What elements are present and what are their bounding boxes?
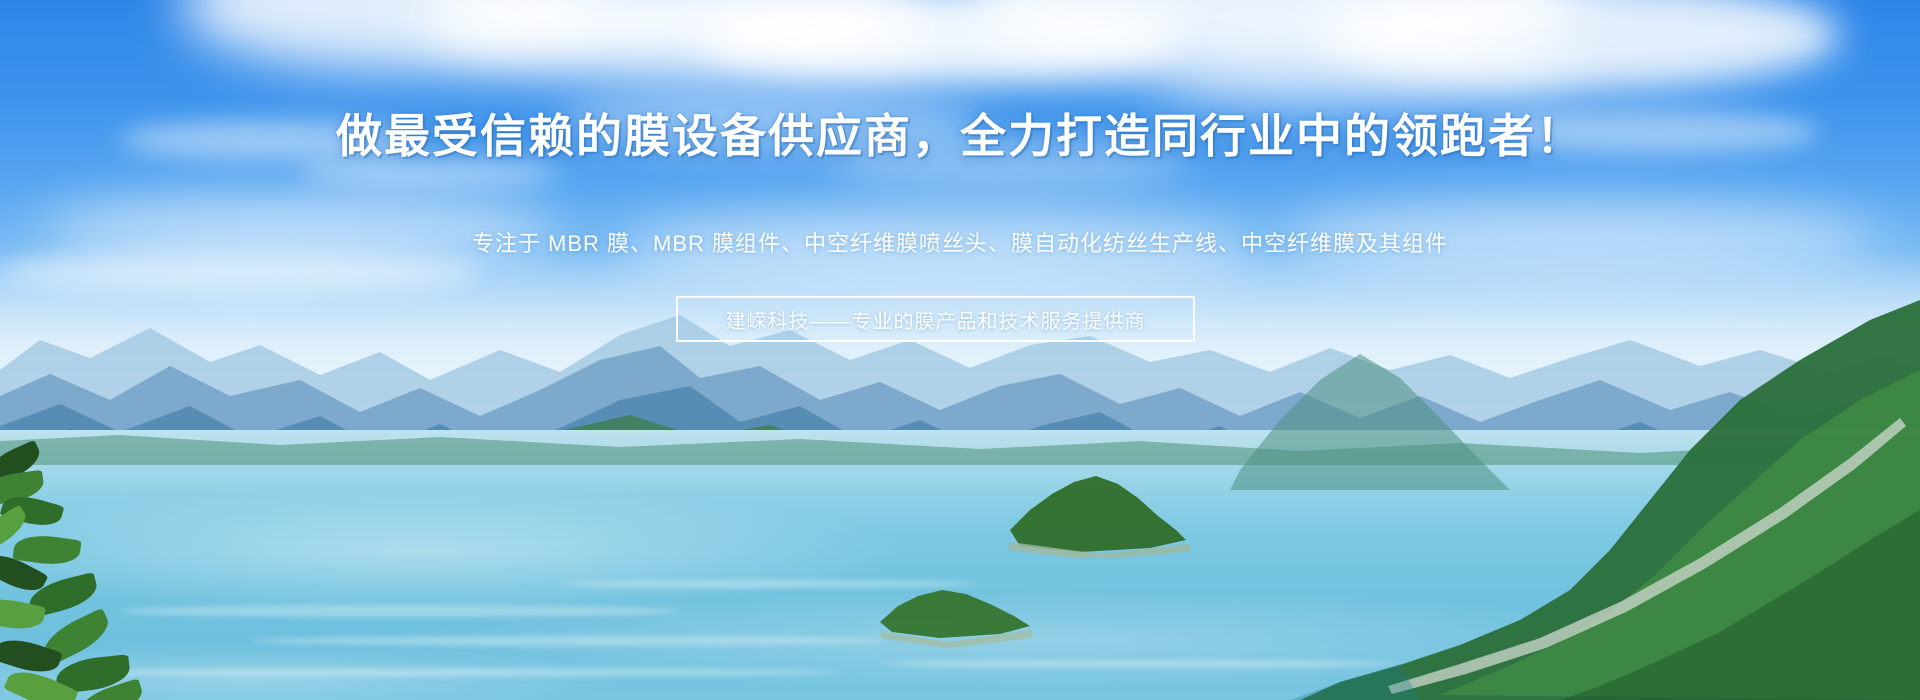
banner-headline: 做最受信赖的膜设备供应商，全力打造同行业中的领跑者！ [0,100,1920,166]
banner-copy: 做最受信赖的膜设备供应商，全力打造同行业中的领跑者！ 专注于 MBR 膜、MBR… [0,0,1920,700]
banner-tagline-text: 建嵘科技——专业的膜产品和技术服务提供商 [726,305,1146,334]
banner-subline: 专注于 MBR 膜、MBR 膜组件、中空纤维膜喷丝头、膜自动化纺丝生产线、中空纤… [0,226,1920,258]
banner-tagline-box: 建嵘科技——专业的膜产品和技术服务提供商 [676,296,1195,342]
hero-banner: 做最受信赖的膜设备供应商，全力打造同行业中的领跑者！ 专注于 MBR 膜、MBR… [0,0,1920,700]
